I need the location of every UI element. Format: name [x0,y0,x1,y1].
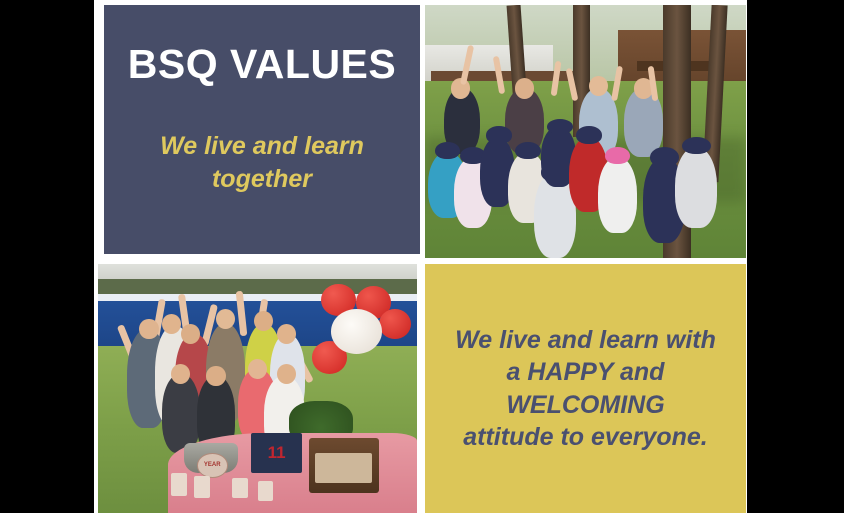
page-title: BSQ VALUES [128,43,397,86]
tub-label-text: YEAR [204,462,221,468]
letterbox-bar-right [747,0,844,513]
person-head [277,324,296,344]
photo-children-cheering [425,5,746,258]
values-statement-panel: We live and learn with a HAPPY and WELCO… [425,264,746,513]
slide-canvas: BSQ VALUES We live and learn together [0,0,844,521]
person-figure [162,374,200,454]
person-head [162,314,181,334]
photo-year11-picnic: YEAR 11 [98,264,417,513]
adult-head [589,76,608,96]
person-head [206,366,225,386]
balloon-red [379,309,411,339]
person-head [171,364,190,384]
child-cap [576,126,602,144]
striped-cups [258,481,274,501]
child-cap [547,119,573,134]
letterbox-bar-left [0,0,94,513]
child-cap [605,147,631,165]
person-head [139,319,158,339]
statement-line-3: WELCOMING [506,391,664,419]
statement-line-2: a HAPPY and [507,358,665,386]
person-head [216,309,235,329]
values-title-panel: BSQ VALUES We live and learn together [104,5,420,254]
balloon-white [331,309,382,354]
adult-head [515,78,534,98]
year-number-text: 11 [268,443,286,463]
person-head [248,359,267,379]
child-cap [435,142,461,160]
striped-cups [194,476,210,498]
striped-cups [232,478,248,498]
year-number-sign: 11 [251,433,302,473]
picnic-basket-interior [315,453,372,483]
child-cap [515,142,541,160]
values-subtitle: We live and learn together [160,130,364,196]
bottom-white-band [0,513,844,521]
child-figure [675,147,717,228]
picnic-photo-scene: YEAR 11 [98,264,417,513]
values-subtitle-line-1: We live and learn [160,132,364,160]
values-statement: We live and learn with a HAPPY and WELCO… [455,324,716,454]
statement-line-4: attitude to everyone. [463,423,708,451]
statement-line-1: We live and learn with [455,326,716,354]
person-head [277,364,296,384]
child-figure [598,157,637,233]
person-head [181,324,200,344]
children-photo-scene [425,5,746,258]
values-collage: BSQ VALUES We live and learn together [98,5,746,513]
child-cap [682,137,711,155]
striped-cups [171,473,187,495]
child-cap [486,126,512,144]
values-subtitle-line-2: together [212,165,312,193]
child-cap [650,147,679,167]
tub-year-label: YEAR [197,453,228,477]
